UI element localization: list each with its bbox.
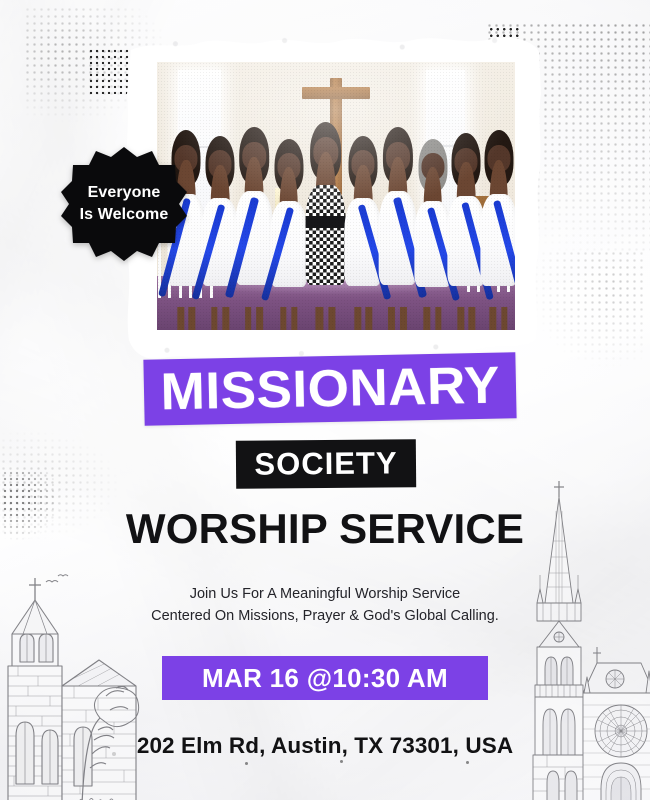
badge-line-2: Is Welcome xyxy=(80,207,169,223)
everyone-is-welcome-badge: Everyone Is Welcome xyxy=(60,146,188,262)
description-line-2: Centered On Missions, Prayer & God's Glo… xyxy=(0,606,650,628)
photo-grain-overlay xyxy=(157,62,515,330)
event-date-badge: MAR 16 @10:30 AM xyxy=(162,656,488,700)
paper-speck xyxy=(466,761,469,764)
flyer-canvas: Everyone Is Welcome MISSIONARY SOCIETY W… xyxy=(0,0,650,800)
paper-speck xyxy=(245,762,248,765)
event-description: Join Us For A Meaningful Worship Service… xyxy=(0,584,650,628)
photo-frame xyxy=(135,40,535,352)
description-line-1: Join Us For A Meaningful Worship Service xyxy=(190,586,461,602)
title-society-banner: SOCIETY xyxy=(236,439,416,489)
badge-line-1: Everyone xyxy=(88,185,161,201)
title-worship-text: WORSHIP SERVICE xyxy=(126,505,524,553)
title-missionary-banner: MISSIONARY xyxy=(143,352,516,425)
title-society-text: SOCIETY xyxy=(254,445,397,482)
group-photo xyxy=(157,62,515,330)
badge-text: Everyone Is Welcome xyxy=(60,146,188,262)
title-missionary-text: MISSIONARY xyxy=(160,356,500,423)
title-worship-service: WORSHIP SERVICE xyxy=(0,505,650,553)
event-date-text: MAR 16 @10:30 AM xyxy=(202,663,448,694)
paper-speck xyxy=(340,760,343,763)
event-address: 202 Elm Rd, Austin, TX 73301, USA xyxy=(0,733,650,759)
